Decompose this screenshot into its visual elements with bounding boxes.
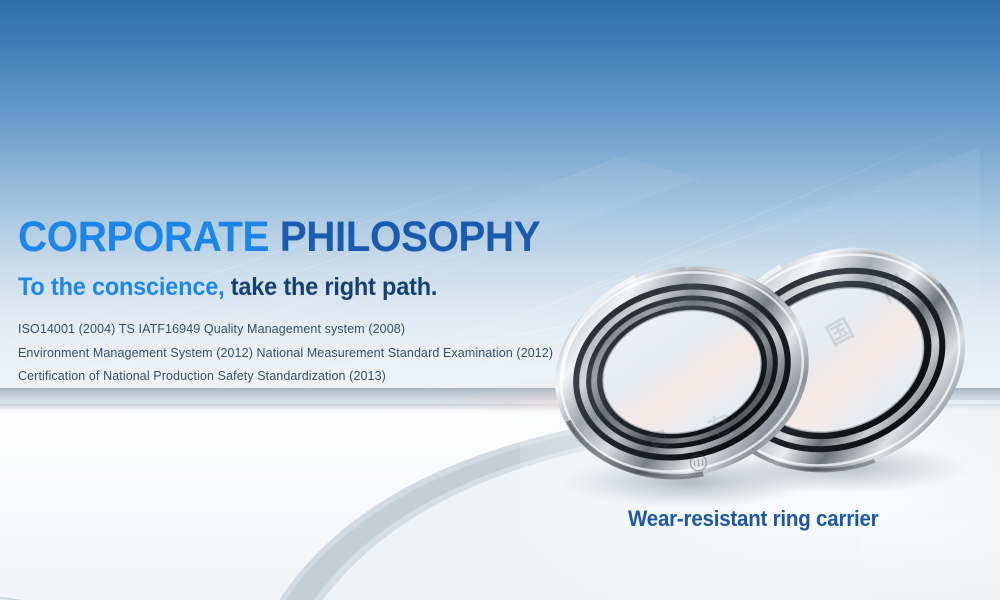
architectural-rail <box>0 388 1000 404</box>
page-title: CORPORATE PHILOSOPHY <box>18 212 601 262</box>
list-item: ISO14001 (2004) TS IATF16949 Quality Man… <box>18 318 638 342</box>
certification-list: ISO14001 (2004) TS IATF16949 Quality Man… <box>18 318 638 389</box>
headline-word-primary: CORPORATE <box>18 213 269 261</box>
subtitle-part-secondary: take the right path. <box>231 273 437 301</box>
list-item: Certification of National Production Saf… <box>18 365 638 389</box>
product-caption: Wear-resistant ring carrier <box>628 506 878 532</box>
list-item: Environment Management System (2012) Nat… <box>18 342 638 366</box>
subtitle-part-primary: To the conscience, <box>18 273 224 301</box>
page-subtitle: To the conscience, take the right path. <box>18 272 601 302</box>
copy-block: CORPORATE PHILOSOPHY To the conscience, … <box>18 212 638 389</box>
corporate-philosophy-banner: 限 国 有 司 CORPORATE PHILOSOPHY To the cons… <box>0 0 1000 600</box>
headline-word-secondary: PHILOSOPHY <box>280 213 540 261</box>
ground-plane <box>0 398 1000 600</box>
rail-shadow <box>0 404 1000 414</box>
